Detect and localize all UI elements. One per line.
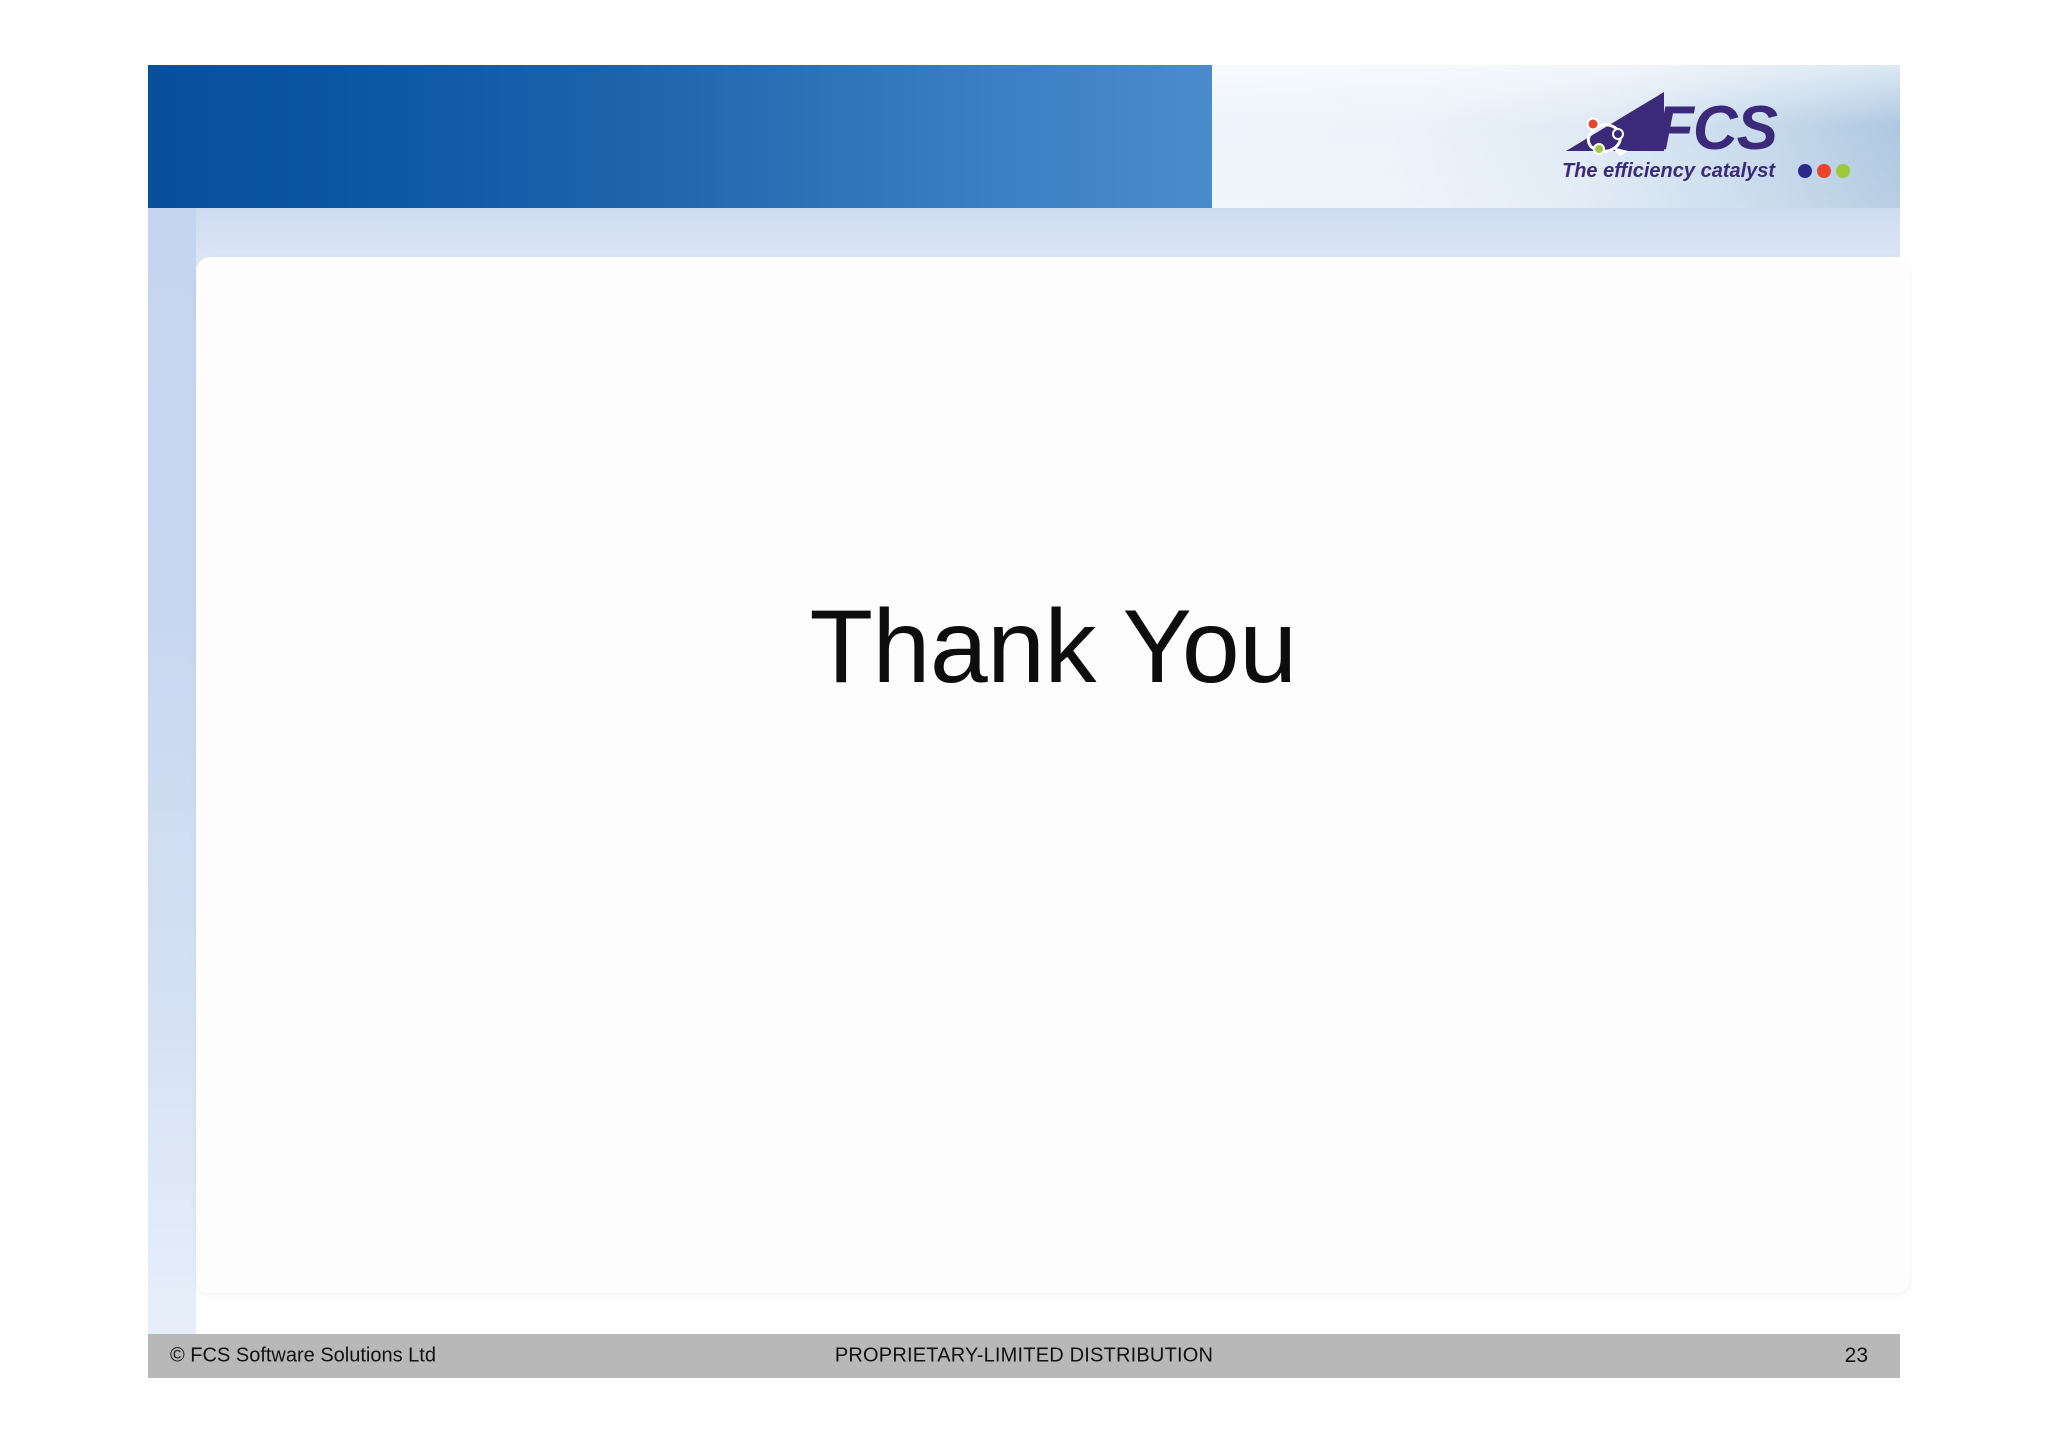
fcs-logo: FCS The efficiency catalyst [1560, 87, 1890, 187]
slide-header: FCS The efficiency catalyst [148, 65, 1900, 208]
footer-page-number: 23 [1845, 1344, 1868, 1368]
slide-title: Thank You [196, 595, 1910, 699]
svg-text:The efficiency catalyst: The efficiency catalyst [1562, 160, 1776, 182]
content-card: Thank You [196, 257, 1910, 1293]
header-blue-banner [148, 65, 1212, 208]
fcs-logo-icon: FCS The efficiency catalyst [1560, 87, 1890, 187]
svg-text:FCS: FCS [1656, 94, 1778, 163]
frame-left-band [148, 208, 196, 1378]
slide: FCS The efficiency catalyst Thank You © … [148, 65, 1900, 1378]
footer-distribution-notice: PROPRIETARY-LIMITED DISTRIBUTION [148, 1345, 1900, 1368]
slide-footer: © FCS Software Solutions Ltd PROPRIETARY… [148, 1334, 1900, 1378]
